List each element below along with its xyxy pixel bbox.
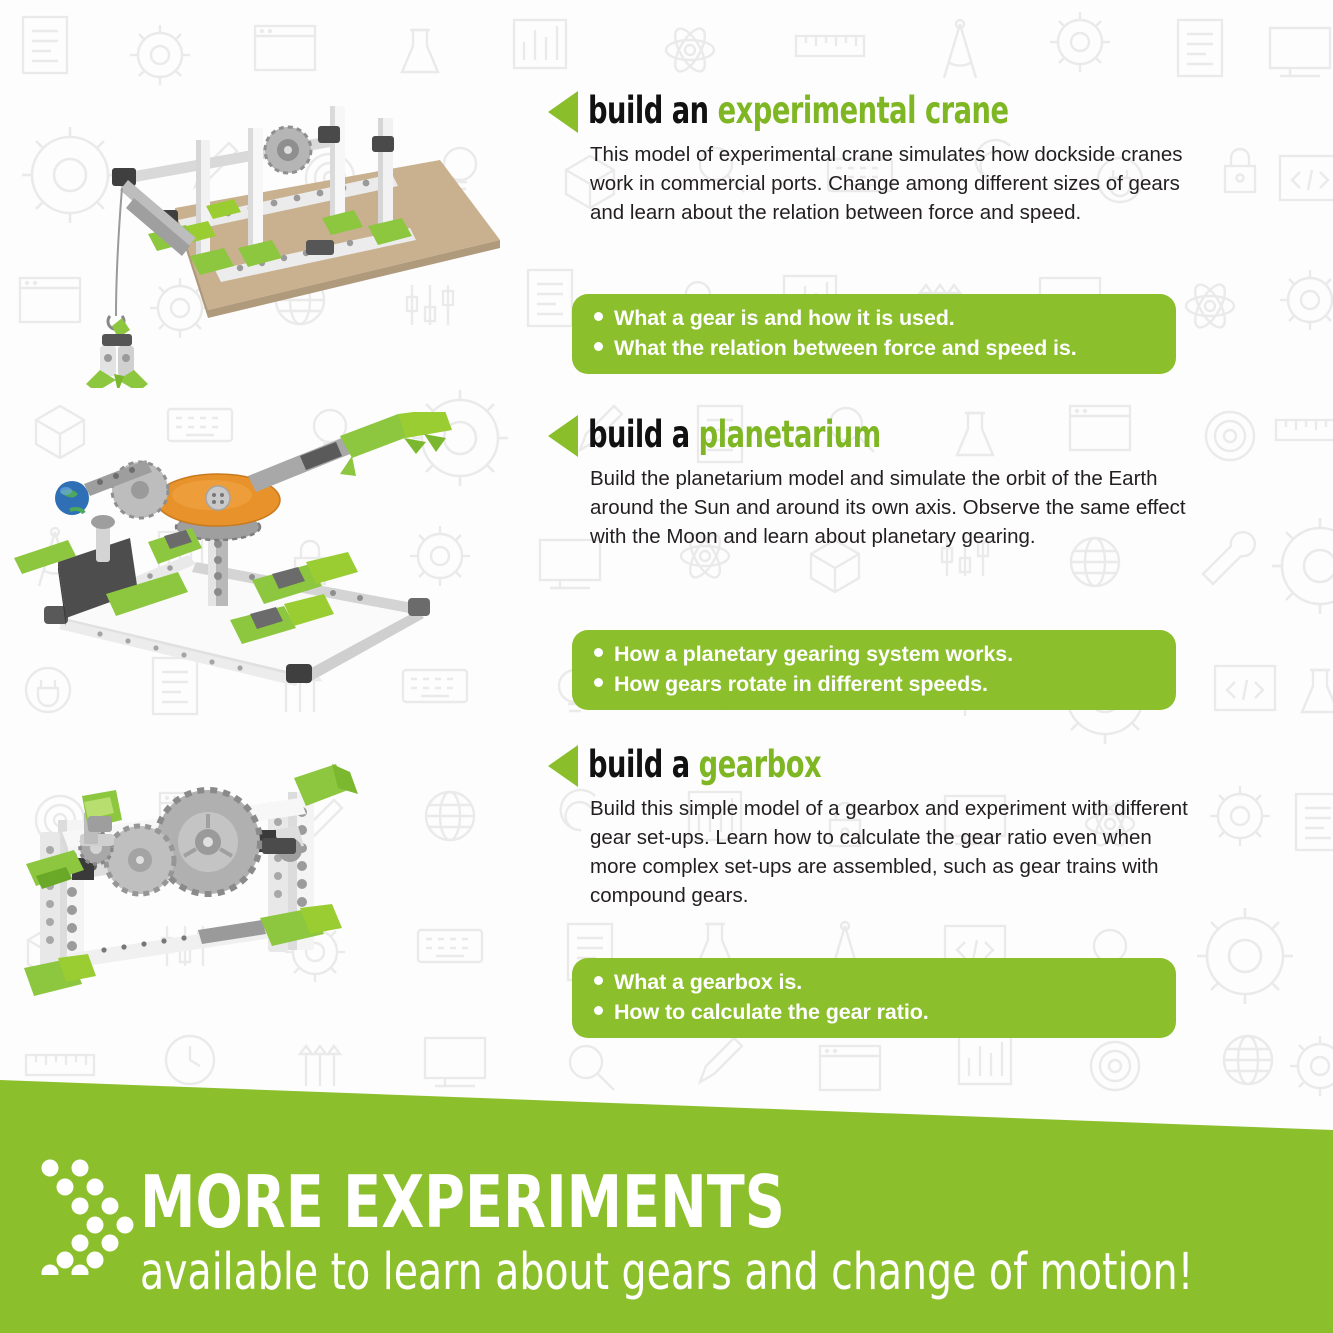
bullet-dot-icon — [594, 678, 603, 687]
gearbox-title-green: gearbox — [699, 743, 821, 786]
gearbox-bullet-1: What a gearbox is. — [614, 967, 802, 997]
triangle-left-icon — [548, 745, 578, 787]
list-item: How gears rotate in different speeds. — [572, 669, 1176, 699]
crane-bullet-2: What the relation between force and spee… — [614, 333, 1077, 363]
crane-headline: build an experimental crane — [548, 88, 1208, 134]
gearbox-title-dark: build a — [588, 743, 699, 786]
planetarium-model-image — [0, 412, 540, 712]
crane-description: This model of experimental crane simulat… — [590, 140, 1190, 227]
triangle-left-icon — [548, 415, 578, 457]
crane-text-column: build an experimental crane This model o… — [548, 88, 1208, 227]
gearbox-description: Build this simple model of a gearbox and… — [590, 794, 1190, 910]
bullet-dot-icon — [594, 1006, 603, 1015]
crane-bullet-box: What a gear is and how it is used. What … — [572, 294, 1176, 374]
dotted-chevron-right-icon — [36, 1155, 140, 1275]
gearbox-text-column: build a gearbox Build this simple model … — [548, 742, 1208, 910]
list-item: How a planetary gearing system works. — [572, 639, 1176, 669]
list-item: What the relation between force and spee… — [572, 333, 1176, 363]
planetarium-title-dark: build a — [588, 413, 699, 456]
triangle-left-icon — [548, 91, 578, 133]
gearbox-bullet-box: What a gearbox is. How to calculate the … — [572, 958, 1176, 1038]
bullet-dot-icon — [594, 312, 603, 321]
bullet-dot-icon — [594, 976, 603, 985]
planetarium-description: Build the planetarium model and simulate… — [590, 464, 1190, 551]
planetarium-text-column: build a planetarium Build the planetariu… — [548, 412, 1208, 551]
planetarium-bullet-2: How gears rotate in different speeds. — [614, 669, 988, 699]
bullet-dot-icon — [594, 342, 603, 351]
gearbox-bullet-2: How to calculate the gear ratio. — [614, 997, 929, 1027]
planetarium-bullet-1: How a planetary gearing system works. — [614, 639, 1013, 669]
bullet-dot-icon — [594, 648, 603, 657]
crane-model-image — [0, 88, 540, 388]
list-item: What a gear is and how it is used. — [572, 303, 1176, 333]
banner-subtitle: available to learn about gears and chang… — [140, 1245, 1193, 1301]
planetarium-headline: build a planetarium — [548, 412, 1208, 458]
planetarium-bullet-box: How a planetary gearing system works. Ho… — [572, 630, 1176, 710]
gearbox-model-image — [0, 742, 540, 1042]
crane-title-green: experimental crane — [718, 89, 1009, 132]
banner-title: MORE EXPERIMENTS — [140, 1165, 785, 1239]
poster-page: build an experimental crane This model o… — [0, 0, 1333, 1333]
list-item: How to calculate the gear ratio. — [572, 997, 1176, 1027]
list-item: What a gearbox is. — [572, 967, 1176, 997]
planetarium-title-green: planetarium — [699, 413, 881, 456]
gearbox-headline: build a gearbox — [548, 742, 1208, 788]
crane-title-dark: build an — [588, 89, 718, 132]
crane-bullet-1: What a gear is and how it is used. — [614, 303, 955, 333]
